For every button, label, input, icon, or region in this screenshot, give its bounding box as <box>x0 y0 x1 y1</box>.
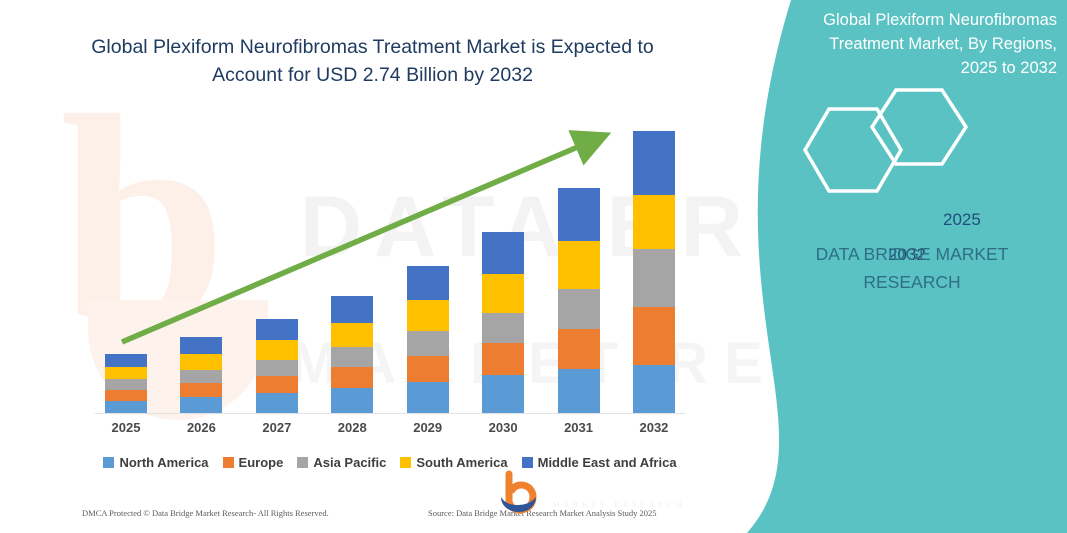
bar-segment <box>331 296 373 323</box>
x-axis-label: 2025 <box>95 420 157 435</box>
bar-segment <box>407 331 449 356</box>
bar-segment <box>105 354 147 367</box>
bar-segment <box>407 266 449 300</box>
x-axis-label: 2027 <box>246 420 308 435</box>
bar-segment <box>180 397 222 413</box>
bar-segment <box>256 376 298 393</box>
legend-label: Middle East and Africa <box>538 455 677 470</box>
stacked-bar[interactable] <box>180 337 222 413</box>
infographic-canvas: b DATA BRIDGE MARKET RESEARCH Global Ple… <box>0 0 1067 533</box>
stacked-bar[interactable] <box>256 319 298 413</box>
right-panel: Global Plexiform Neurofibromas Treatment… <box>687 0 1067 533</box>
x-axis-line <box>95 413 685 414</box>
bar-slot <box>623 120 685 413</box>
bar-segment <box>180 370 222 383</box>
bar-chart <box>95 120 685 413</box>
stacked-bar[interactable] <box>633 131 675 413</box>
bar-segment <box>482 274 524 313</box>
bar-segment <box>407 356 449 382</box>
bar-slot <box>170 120 232 413</box>
panel-brand-line1: DATA BRIDGE MARKET <box>782 240 1042 268</box>
bar-segment <box>180 337 222 354</box>
bar-slot <box>95 120 157 413</box>
bar-segment <box>256 360 298 376</box>
bar-segment <box>331 323 373 347</box>
bar-slot <box>548 120 610 413</box>
bar-segment <box>633 195 675 249</box>
bar-segment <box>105 401 147 413</box>
bar-slot <box>397 120 459 413</box>
bar-segment <box>633 307 675 365</box>
bar-group <box>95 120 685 413</box>
legend-swatch <box>400 457 411 468</box>
legend-label: Asia Pacific <box>313 455 386 470</box>
bar-segment <box>482 375 524 413</box>
data-bridge-logo: DATA BRIDGE MARKET RESEARCH <box>495 470 693 516</box>
x-axis-label: 2031 <box>548 420 610 435</box>
bar-segment <box>256 319 298 340</box>
x-axis-label: 2029 <box>397 420 459 435</box>
bar-segment <box>633 131 675 195</box>
legend-swatch <box>522 457 533 468</box>
bar-segment <box>482 343 524 375</box>
legend-label: North America <box>119 455 208 470</box>
bar-segment <box>558 329 600 369</box>
x-axis-labels: 20252026202720282029203020312032 <box>95 420 685 435</box>
logo-mark-icon <box>495 470 547 516</box>
legend-item[interactable]: Europe <box>223 455 284 470</box>
bar-slot <box>321 120 383 413</box>
bar-segment <box>331 367 373 388</box>
bar-segment <box>407 382 449 413</box>
legend-item[interactable]: North America <box>103 455 208 470</box>
bar-segment <box>180 354 222 370</box>
bar-slot <box>472 120 534 413</box>
bar-segment <box>558 188 600 241</box>
legend-item[interactable]: South America <box>400 455 507 470</box>
bar-segment <box>558 289 600 329</box>
panel-brand-text: DATA BRIDGE MARKET RESEARCH <box>782 240 1042 296</box>
bar-segment <box>256 340 298 360</box>
x-axis-label: 2030 <box>472 420 534 435</box>
stacked-bar[interactable] <box>105 354 147 413</box>
logo-divider <box>553 498 693 499</box>
bar-segment <box>558 369 600 413</box>
bar-segment <box>482 313 524 343</box>
bar-segment <box>105 367 147 379</box>
panel-brand-line2: RESEARCH <box>782 268 1042 296</box>
legend-item[interactable]: Middle East and Africa <box>522 455 677 470</box>
stacked-bar[interactable] <box>482 232 524 413</box>
legend-swatch <box>297 457 308 468</box>
bar-slot <box>246 120 308 413</box>
bar-segment <box>180 383 222 397</box>
stacked-bar[interactable] <box>331 296 373 413</box>
bar-segment <box>331 388 373 413</box>
logo-main-text: DATA BRIDGE <box>553 477 693 496</box>
bar-segment <box>105 390 147 401</box>
bar-segment <box>633 365 675 413</box>
legend-swatch <box>103 457 114 468</box>
footer-copyright: DMCA Protected © Data Bridge Market Rese… <box>82 508 329 518</box>
bar-segment <box>407 300 449 331</box>
bar-segment <box>482 232 524 274</box>
bar-segment <box>558 241 600 289</box>
chart-legend: North AmericaEuropeAsia PacificSouth Ame… <box>95 455 685 470</box>
x-axis-label: 2032 <box>623 420 685 435</box>
chart-title: Global Plexiform Neurofibromas Treatment… <box>60 34 685 89</box>
logo-sub-text: MARKET RESEARCH <box>553 501 693 509</box>
bar-segment <box>331 347 373 367</box>
bar-segment <box>105 379 147 390</box>
legend-label: South America <box>416 455 507 470</box>
legend-item[interactable]: Asia Pacific <box>297 455 386 470</box>
legend-swatch <box>223 457 234 468</box>
stacked-bar[interactable] <box>407 266 449 413</box>
hexagon-2025-label: 2025 <box>943 210 981 230</box>
hexagon-badges: 2025 2032 <box>767 85 1027 215</box>
x-axis-label: 2026 <box>170 420 232 435</box>
stacked-bar[interactable] <box>558 188 600 413</box>
legend-label: Europe <box>239 455 284 470</box>
bar-segment <box>256 393 298 413</box>
panel-title: Global Plexiform Neurofibromas Treatment… <box>795 8 1057 80</box>
x-axis-label: 2028 <box>321 420 383 435</box>
bar-segment <box>633 249 675 307</box>
